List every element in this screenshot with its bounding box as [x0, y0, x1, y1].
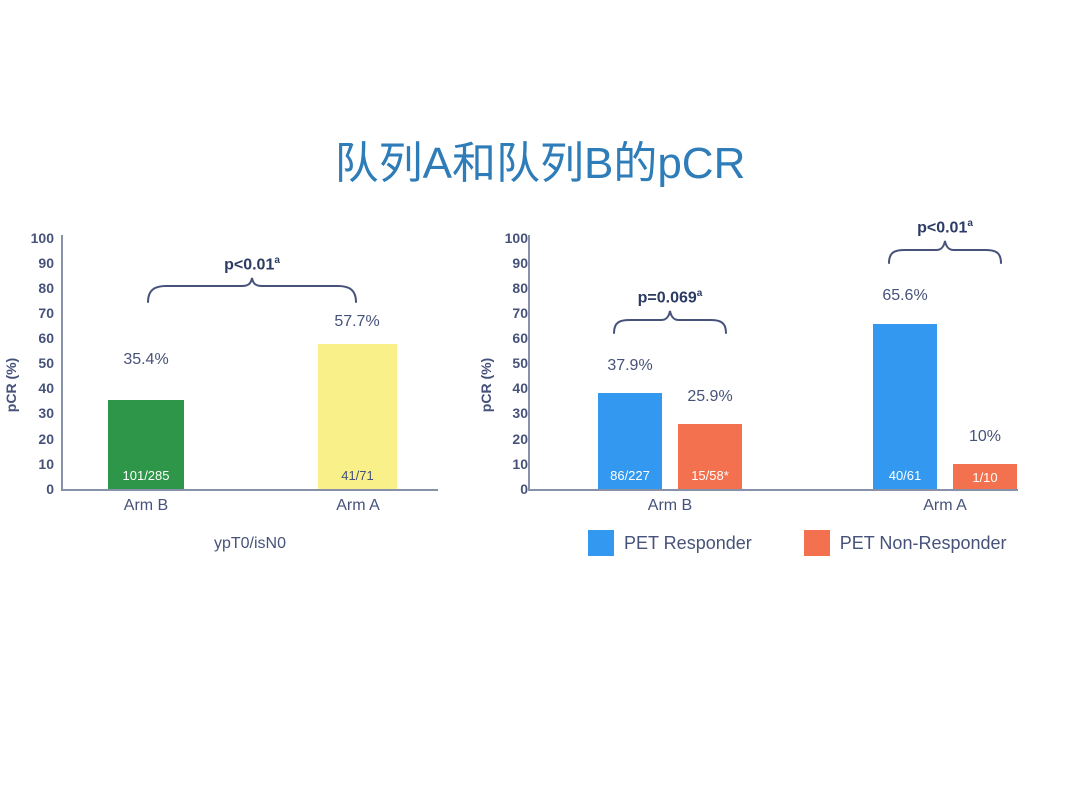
bar-arm-a-pet-non-responder[interactable]: 1/10	[953, 464, 1017, 489]
bar-arm-b-pet-non-responder[interactable]: 15/58*	[678, 424, 742, 489]
y-tick-50-right: 50	[512, 356, 528, 370]
bar-inner-label-arm-b-pet-responder: 86/227	[598, 468, 662, 483]
x-axis-label-left: ypT0/isN0	[130, 535, 370, 553]
significance-p-value-left: p<0.01	[224, 256, 274, 273]
significance-superscript-left: a	[274, 255, 280, 266]
bar-inner-label-arm-b-left: 101/285	[108, 468, 184, 483]
y-tick-40-right: 40	[512, 381, 528, 395]
bar-inner-label-text-arm-b-nr: 15/58*	[691, 468, 729, 483]
page-title: 队列A和队列B的pCR	[0, 140, 1080, 188]
bar-value-arm-b-pet-responder: 37.9%	[590, 357, 670, 375]
y-axis-line-right	[528, 235, 530, 490]
y-axis-label-left: pCR (%)	[3, 350, 19, 420]
significance-p-value-arm-a: p<0.01	[917, 219, 967, 236]
y-axis-label-right: pCR (%)	[478, 350, 494, 420]
bar-arm-b-pet-responder[interactable]: 86/227	[598, 393, 662, 489]
bar-inner-label-arm-b-pet-non-responder: 15/58*	[678, 468, 742, 483]
legend-swatch-pet-responder-icon	[588, 530, 614, 556]
y-tick-100-right: 100	[505, 231, 528, 245]
x-axis-line-left	[61, 489, 438, 491]
significance-superscript-arm-b: a	[697, 288, 703, 299]
y-tick-30: 30	[38, 406, 54, 420]
brace-icon-left	[146, 277, 358, 303]
x-axis-line-right	[528, 489, 1018, 491]
brace-icon-arm-a	[887, 240, 1003, 264]
y-tick-10: 10	[38, 457, 54, 471]
x-tick-arm-b-right: Arm B	[620, 497, 720, 515]
bar-value-arm-b-left: 35.4%	[108, 351, 184, 369]
y-tick-20: 20	[38, 432, 54, 446]
chart-legend: PET Responder PET Non-Responder	[588, 530, 1007, 556]
significance-p-value-arm-b: p=0.069	[638, 289, 697, 306]
y-tick-60-right: 60	[512, 331, 528, 345]
significance-text-left: p<0.01a	[146, 255, 358, 274]
significance-superscript-arm-a: a	[967, 218, 973, 229]
bar-value-arm-a-pet-non-responder: 10%	[945, 428, 1025, 446]
x-tick-arm-b-left: Arm B	[96, 497, 196, 515]
y-tick-80-right: 80	[512, 281, 528, 295]
y-axis-ticks-right: 100 90 80 70 60 50 40 30 20 10 0	[494, 225, 528, 570]
bar-arm-a-left[interactable]: 41/71	[318, 344, 397, 489]
y-tick-50: 50	[38, 356, 54, 370]
brace-icon-arm-b	[612, 310, 728, 334]
legend-swatch-pet-non-responder-icon	[804, 530, 830, 556]
y-tick-90: 90	[38, 256, 54, 270]
bar-arm-b-left[interactable]: 101/285	[108, 400, 184, 489]
bar-inner-label-arm-a-left: 41/71	[318, 468, 397, 483]
legend-item-pet-non-responder[interactable]: PET Non-Responder	[804, 530, 1007, 556]
bar-arm-a-pet-responder[interactable]: 40/61	[873, 324, 937, 489]
y-tick-30-right: 30	[512, 406, 528, 420]
y-tick-10-right: 10	[512, 457, 528, 471]
y-tick-40: 40	[38, 381, 54, 395]
bar-value-arm-b-pet-non-responder: 25.9%	[670, 388, 750, 406]
y-axis-ticks-left: 100 90 80 70 60 50 40 30 20 10 0	[20, 225, 54, 570]
significance-text-arm-b: p=0.069a	[612, 288, 728, 307]
bar-value-arm-a-pet-responder: 65.6%	[865, 287, 945, 305]
legend-item-pet-responder[interactable]: PET Responder	[588, 530, 752, 556]
slide-canvas: 队列A和队列B的pCR 100 90 80 70 60 50 40 30 20 …	[0, 0, 1080, 810]
legend-label-pet-non-responder: PET Non-Responder	[840, 533, 1007, 554]
y-tick-70-right: 70	[512, 306, 528, 320]
y-tick-0-right: 0	[520, 482, 528, 496]
y-axis-line-left	[61, 235, 63, 490]
chart-left-ypT0-isN0: 100 90 80 70 60 50 40 30 20 10 0 pCR (%)…	[0, 225, 470, 570]
y-tick-70: 70	[38, 306, 54, 320]
bar-inner-label-arm-a-pet-non-responder: 1/10	[953, 470, 1017, 485]
significance-text-arm-a: p<0.01a	[887, 218, 1003, 237]
bar-inner-label-arm-a-pet-responder: 40/61	[873, 468, 937, 483]
y-tick-0: 0	[46, 482, 54, 496]
x-tick-arm-a-right: Arm A	[895, 497, 995, 515]
bar-value-arm-a-left: 57.7%	[312, 313, 402, 331]
y-tick-90-right: 90	[512, 256, 528, 270]
y-tick-60: 60	[38, 331, 54, 345]
y-tick-100: 100	[31, 231, 54, 245]
legend-label-pet-responder: PET Responder	[624, 533, 752, 554]
y-tick-80: 80	[38, 281, 54, 295]
y-tick-20-right: 20	[512, 432, 528, 446]
chart-right-pet-response: 100 90 80 70 60 50 40 30 20 10 0 pCR (%)…	[470, 225, 1080, 570]
x-tick-arm-a-left: Arm A	[308, 497, 408, 515]
